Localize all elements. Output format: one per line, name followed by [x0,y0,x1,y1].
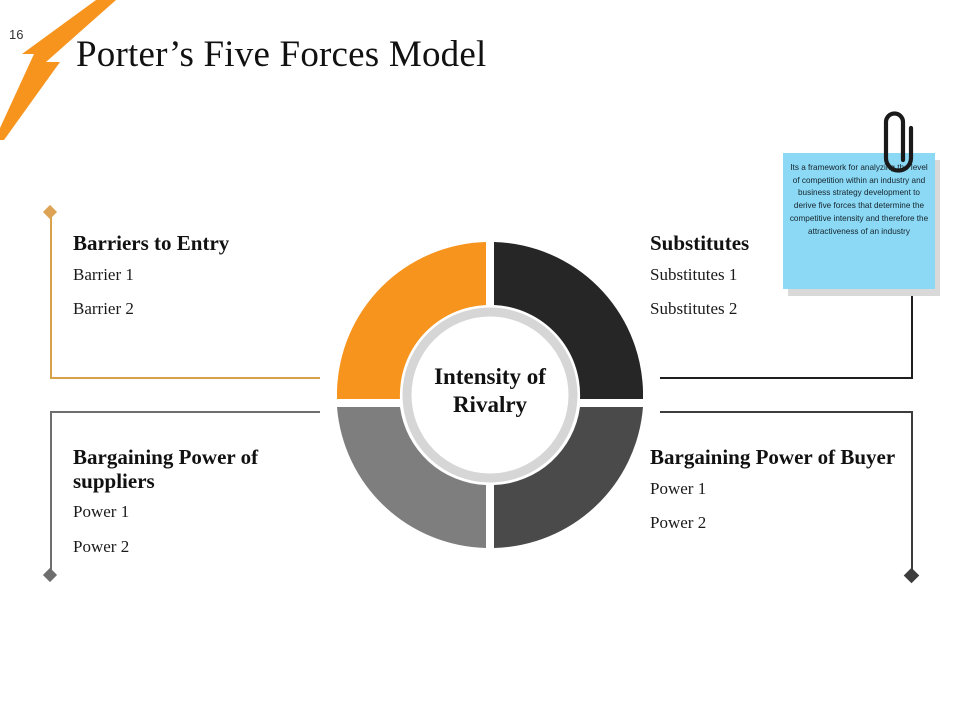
connector-line-buyer-horizontal [660,411,913,413]
donut-center-label: Intensity of Rivalry [383,363,597,418]
force-item: Substitutes 2 [650,300,900,319]
force-item: Barrier 1 [73,266,323,285]
page-number: 16 [9,28,23,41]
force-item: Power 1 [73,503,323,522]
connector-line-suppliers-vertical [50,411,52,575]
connector-line-substitutes-horizontal [660,377,913,379]
force-item: Power 2 [650,514,900,533]
connector-line-barriers-horizontal [50,377,320,379]
force-block-bargaining-power-of-buyer: Bargaining Power of Buyer Power 1 Power … [650,446,900,533]
force-block-bargaining-power-of-suppliers: Bargaining Power of suppliers Power 1 Po… [73,446,323,556]
connector-line-suppliers-horizontal [50,411,320,413]
connector-line-buyer-vertical [911,411,913,575]
connector-endpoint-buyer [904,568,920,584]
connector-endpoint-suppliers [43,568,57,582]
force-heading-barriers-to-entry: Barriers to Entry [73,232,323,256]
force-item: Barrier 2 [73,300,323,319]
force-heading-bargaining-power-of-buyer: Bargaining Power of Buyer [650,446,900,470]
connector-endpoint-barriers [43,205,57,219]
force-item: Power 1 [650,480,900,499]
page-title: Porter’s Five Forces Model [76,33,486,76]
force-item: Power 2 [73,538,323,557]
connector-line-barriers-vertical [50,212,52,379]
force-block-barriers-to-entry: Barriers to Entry Barrier 1 Barrier 2 [73,232,323,319]
force-heading-bargaining-power-of-suppliers: Bargaining Power of suppliers [73,446,323,493]
donut-center-label-line1: Intensity of [383,363,597,391]
sticky-note-text: Its a framework for analyzing the level … [787,162,931,238]
slide-canvas: 16 Porter’s Five Forces Model Intensity … [0,0,960,720]
donut-center-label-line2: Rivalry [383,391,597,419]
